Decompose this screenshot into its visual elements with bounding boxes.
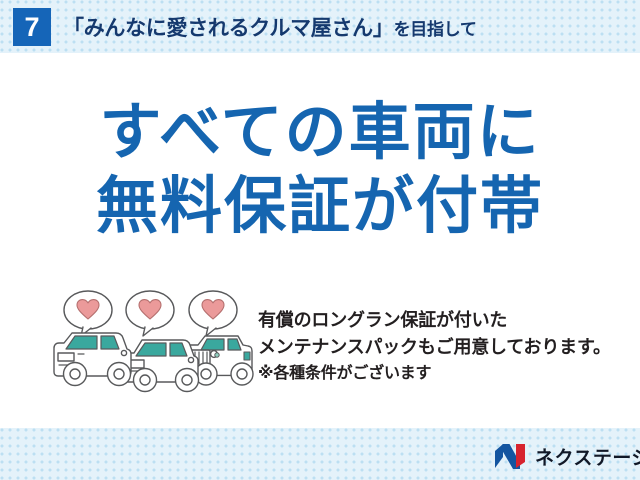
body-copy-line-1: 有償のロングラン保証が付いた bbox=[258, 307, 630, 334]
header-title-suffix: を目指して bbox=[394, 20, 477, 39]
section-number-badge: 7 bbox=[13, 8, 51, 46]
header-row: 7 「みんなに愛されるクルマ屋さん」を目指して bbox=[0, 0, 640, 53]
nextage-n-logo-icon bbox=[494, 443, 528, 469]
footer-logo: ネクステージ bbox=[494, 440, 640, 472]
heart-speech-bubble-3 bbox=[189, 291, 237, 336]
body-copy-note: ※各種条件がございます bbox=[258, 361, 630, 387]
heart-speech-bubble-2 bbox=[126, 291, 174, 336]
headline: すべての車両に 無料保証が付帯 bbox=[0, 96, 640, 244]
ad-banner: 7 「みんなに愛されるクルマ屋さん」を目指して すべての車両に 無料保証が付帯 bbox=[0, 0, 640, 480]
heart-speech-bubble-1 bbox=[64, 291, 112, 336]
three-cars-with-heart-speech-bubbles bbox=[48, 288, 254, 400]
headline-line-2: 無料保証が付帯 bbox=[0, 170, 640, 244]
body-copy: 有償のロングラン保証が付いた メンテナンスパックもご用意しております。 ※各種条… bbox=[258, 307, 630, 387]
logo-wordmark: ネクステージ bbox=[535, 443, 640, 470]
header-title-quoted: 「みんなに愛されるクルマ屋さん」 bbox=[63, 17, 394, 40]
header-title: 「みんなに愛されるクルマ屋さん」を目指して bbox=[63, 12, 477, 42]
tall-wagon-car bbox=[54, 333, 131, 386]
body-copy-line-2: メンテナンスパックもご用意しております。 bbox=[258, 334, 630, 361]
headline-line-1: すべての車両に bbox=[0, 96, 640, 170]
minivan-car bbox=[124, 340, 199, 392]
